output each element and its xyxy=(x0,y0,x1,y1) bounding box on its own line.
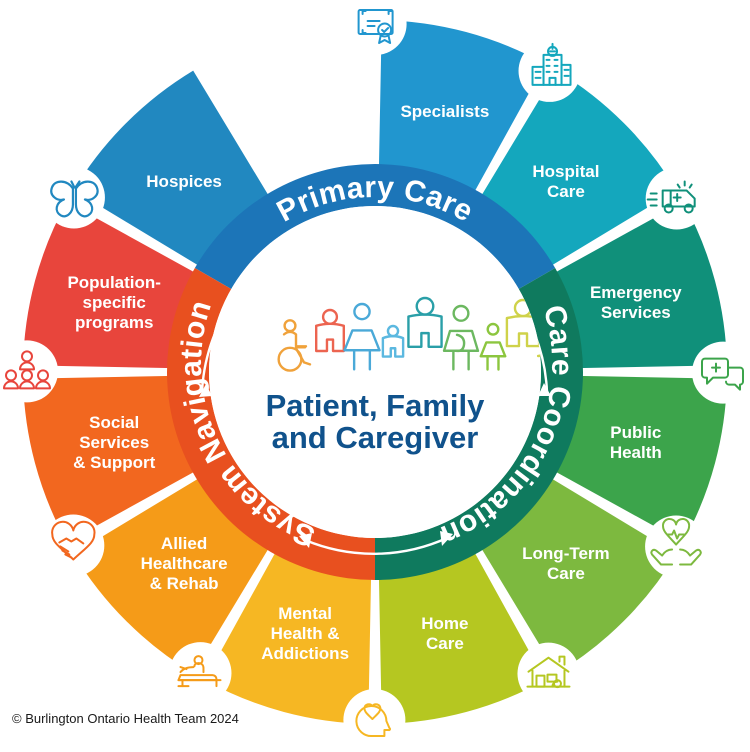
segment-hospices-label: Hospices xyxy=(146,172,222,191)
segment-emergency-services-label: EmergencyServices xyxy=(590,283,682,322)
petal-notch xyxy=(169,642,231,704)
center-title-line1: Patient, Family xyxy=(266,388,486,423)
segment-home-care-label: HomeCare xyxy=(421,614,468,653)
care-wheel-diagram: Patient, Family and Caregiver Primary Ca… xyxy=(0,0,750,752)
petal-notch xyxy=(42,514,104,576)
segment-specialists-label: Specialists xyxy=(400,102,489,121)
petal-notch xyxy=(343,689,405,751)
center-title-line2: and Caregiver xyxy=(272,420,479,455)
copyright-text: © Burlington Ontario Health Team 2024 xyxy=(12,711,239,726)
segment-public-health-label: PublicHealth xyxy=(610,423,662,462)
